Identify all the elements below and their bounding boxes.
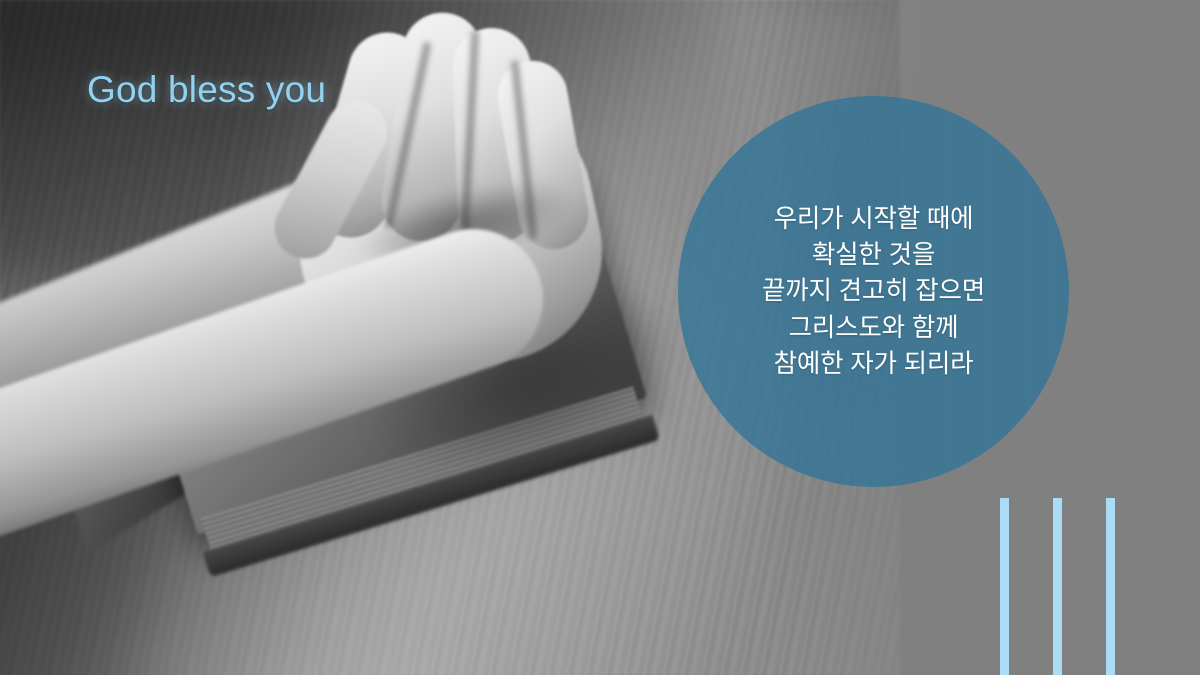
accent-circle: 우리가 시작할 때에 확실한 것을 끝까지 견고히 잡으면 그리스도와 함께 참… (678, 96, 1069, 487)
accent-bar-1 (1000, 498, 1009, 675)
accent-bars-group (1000, 498, 1120, 675)
accent-bar-2 (1053, 498, 1062, 675)
accent-bar-3 (1106, 498, 1115, 675)
scripture-verse-text: 우리가 시작할 때에 확실한 것을 끝까지 견고히 잡으면 그리스도와 함께 참… (699, 201, 1049, 382)
page-title: God bless you (87, 69, 326, 111)
slide-canvas: God bless you 우리가 시작할 때에 확실한 것을 끝까지 견고히 … (0, 0, 1200, 675)
